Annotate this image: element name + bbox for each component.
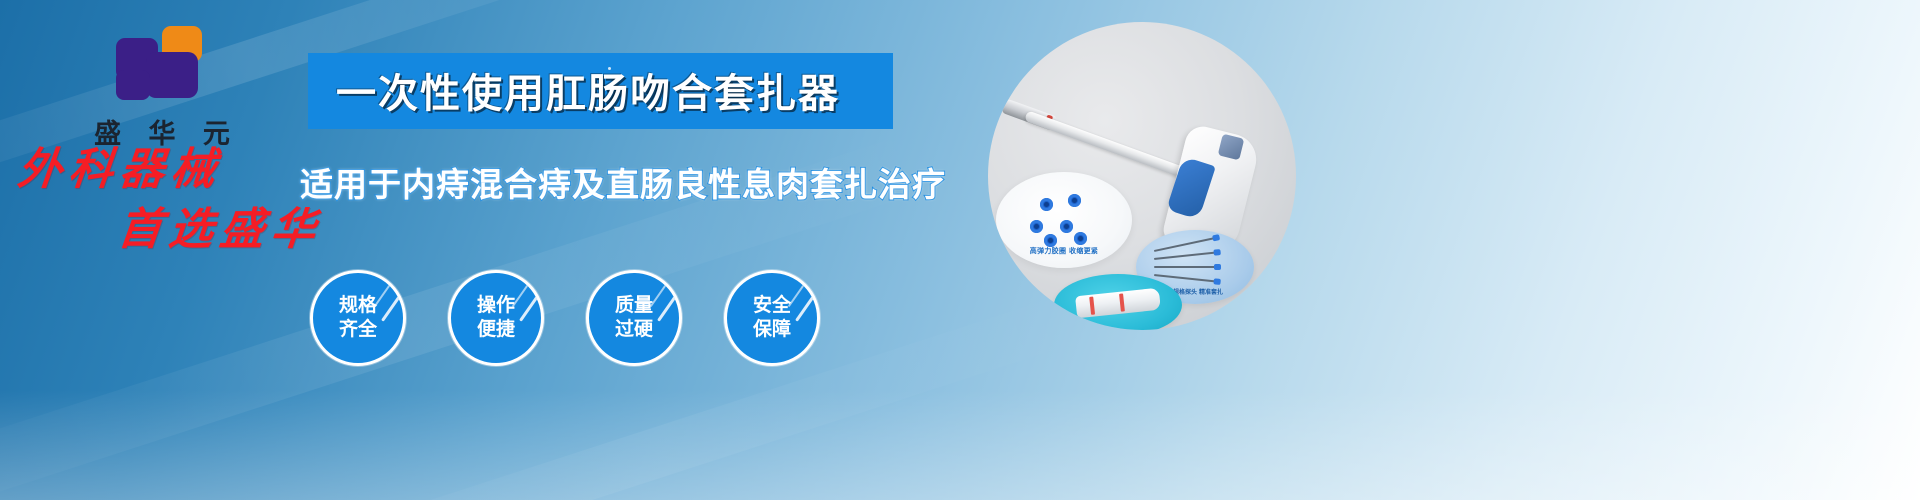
feature-badge-line-2: 齐全 <box>339 318 377 342</box>
rubber-ring-icon <box>1074 232 1087 245</box>
cartridge-icon <box>1075 288 1161 319</box>
promo-banner: 盛 华 元 外科器械 首选盛华 一次性使用肛肠吻合套扎器 适用于内痔混合痔及直肠… <box>0 0 1920 500</box>
slogan-line-2: 首选盛华 <box>116 208 325 252</box>
product-photo-circle: 高弹力胶圈 收缩更紧 多规格探头 精准套扎 <box>988 22 1296 330</box>
cartridge-inset <box>1054 274 1182 330</box>
rubber-ring-icon <box>1030 220 1043 233</box>
headline-bar: 一次性使用肛肠吻合套扎器 <box>308 53 893 129</box>
logo-square-purple-right <box>146 52 198 98</box>
feature-badge-specifications[interactable]: 规格 齐全 <box>310 270 406 366</box>
feature-badge-line-1: 安全 <box>753 294 791 318</box>
feature-badge-list: 规格 齐全 操作 便捷 质量 过硬 安全 保障 <box>310 270 820 366</box>
sparkle-icon <box>638 77 641 80</box>
feature-badge-line-2: 便捷 <box>477 318 515 342</box>
sparkle-icon <box>608 67 611 70</box>
feature-badge-line-1: 规格 <box>339 294 377 318</box>
logo-square-purple-bottom <box>116 70 150 100</box>
feature-badge-line-2: 过硬 <box>615 318 653 342</box>
feature-badge-quality[interactable]: 质量 过硬 <box>586 270 682 366</box>
feature-badge-operation[interactable]: 操作 便捷 <box>448 270 544 366</box>
rubber-ring-icon <box>1060 220 1073 233</box>
brand-logo[interactable]: 盛 华 元 <box>62 26 262 151</box>
slogan-line-1: 外科器械 <box>16 148 325 192</box>
rubber-ring-icon <box>1068 194 1081 207</box>
brand-slogan: 外科器械 首选盛华 <box>18 148 322 252</box>
probe-icon <box>1154 266 1220 268</box>
page-subtitle: 适用于内痔混合痔及直肠良性息肉套扎治疗 <box>300 158 946 206</box>
rubber-ring-icon <box>1040 198 1053 211</box>
rings-caption: 高弹力胶圈 收缩更紧 <box>1008 246 1120 256</box>
product-photo: 高弹力胶圈 收缩更紧 多规格探头 精准套扎 <box>988 22 1296 330</box>
feature-badge-line-1: 操作 <box>477 294 515 318</box>
feature-badge-line-1: 质量 <box>615 294 653 318</box>
probe-icon <box>1154 236 1219 252</box>
feature-badge-line-2: 保障 <box>753 318 791 342</box>
feature-badge-safety[interactable]: 安全 保障 <box>724 270 820 366</box>
probe-icon <box>1154 274 1220 283</box>
page-title: 一次性使用肛肠吻合套扎器 <box>336 61 865 119</box>
bottom-glow <box>0 390 1920 500</box>
probe-icon <box>1154 251 1220 260</box>
logo-mark-icon <box>116 26 208 104</box>
rings-inset: 高弹力胶圈 收缩更紧 <box>996 172 1132 268</box>
